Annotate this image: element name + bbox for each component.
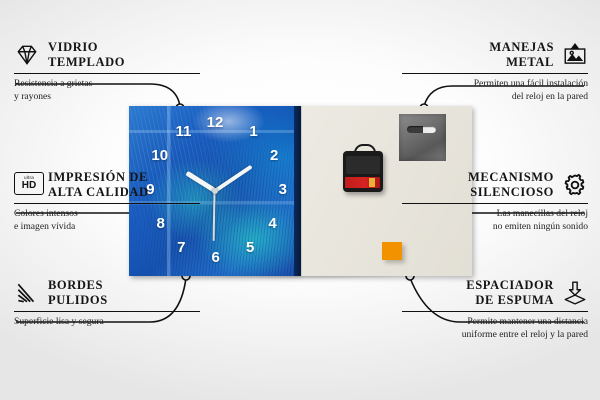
callout-desc-line1: Colores intensos xyxy=(14,208,200,220)
callout-title-line1: IMPRESIÓN DE xyxy=(48,170,149,185)
callout-title-line1: MANEJAS xyxy=(489,40,554,55)
clock-numeral-4: 4 xyxy=(268,216,276,231)
infographic-canvas: 12 1 2 3 4 5 6 7 8 9 10 11 xyxy=(0,0,600,400)
clock-numeral-12: 12 xyxy=(207,115,224,130)
callout-title-line1: ESPACIADOR xyxy=(466,278,554,293)
callout-manejas-metal: MANEJAS METAL Permiten una fácil instala… xyxy=(402,40,588,103)
callout-title-line2: METAL xyxy=(489,55,554,70)
arrow-onto-layers-icon xyxy=(562,280,588,306)
movement-plate xyxy=(346,156,380,174)
callout-head: MECANISMO SILENCIOSO xyxy=(402,170,588,200)
callout-mecanismo-silencioso: MECANISMO SILENCIOSO Las manecillas del … xyxy=(402,170,588,233)
callout-title-line2: PULIDOS xyxy=(48,293,108,308)
callout-title-line1: BORDES xyxy=(48,278,108,293)
callout-head: ESPACIADOR DE ESPUMA xyxy=(402,278,588,308)
callout-desc-line2: no emiten ningún sonido xyxy=(402,221,588,233)
callout-title-line2: ALTA CALIDAD xyxy=(48,185,149,200)
callout-desc-line1: Superficie lisa y segura xyxy=(14,316,200,328)
battery-label xyxy=(345,177,380,188)
callout-desc-line2: e imagen vívida xyxy=(14,221,200,233)
callout-rule xyxy=(402,203,588,205)
callout-desc-line2: del reloj en la pared xyxy=(402,91,588,103)
clock-numeral-10: 10 xyxy=(151,148,168,163)
clock-numeral-3: 3 xyxy=(279,182,287,197)
callout-rule xyxy=(14,311,200,313)
clock-numeral-6: 6 xyxy=(212,250,220,265)
callout-head: MANEJAS METAL xyxy=(402,40,588,70)
clock-numeral-1: 1 xyxy=(249,124,257,139)
callout-rule xyxy=(402,311,588,313)
clock-numeral-5: 5 xyxy=(246,240,254,255)
callout-desc-line2: uniforme entre el reloj y la pared xyxy=(402,329,588,341)
callout-impresion-alta-calidad: ultra HD IMPRESIÓN DE ALTA CALIDAD Color… xyxy=(14,170,200,233)
clock-numeral-7: 7 xyxy=(177,240,185,255)
callout-title-line2: TEMPLADO xyxy=(48,55,125,70)
callout-desc-line2: y rayones xyxy=(14,91,200,103)
callout-vidrio-templado: VIDRIO TEMPLADO Resistencia a grietas y … xyxy=(14,40,200,103)
picture-hanger-icon xyxy=(562,42,588,68)
diamond-icon xyxy=(14,42,40,68)
callout-title-line2: SILENCIOSO xyxy=(468,185,554,200)
callout-title-line2: DE ESPUMA xyxy=(466,293,554,308)
ultra-hd-icon: ultra HD xyxy=(14,172,40,198)
callout-title-line1: MECANISMO xyxy=(468,170,554,185)
callout-title-line1: VIDRIO xyxy=(48,40,125,55)
callout-head: VIDRIO TEMPLADO xyxy=(14,40,200,70)
quartz-movement xyxy=(343,151,383,192)
metal-hanger xyxy=(399,114,446,161)
callout-head: ultra HD IMPRESIÓN DE ALTA CALIDAD xyxy=(14,170,200,200)
hanger-slot xyxy=(407,126,436,133)
foam-spacer xyxy=(382,242,402,260)
clock-center-pivot xyxy=(212,188,218,194)
callout-bordes-pulidos: BORDES PULIDOS Superficie lisa y segura xyxy=(14,278,200,329)
callout-desc-line1: Las manecillas del reloj xyxy=(402,208,588,220)
callout-desc-line1: Permite mantener una distancia xyxy=(402,316,588,328)
callout-espaciador-de-espuma: ESPACIADOR DE ESPUMA Permite mantener un… xyxy=(402,278,588,341)
clock-numeral-2: 2 xyxy=(270,148,278,163)
callout-rule xyxy=(14,73,200,75)
clock-numeral-11: 11 xyxy=(175,124,191,139)
callout-desc-line1: Permiten una fácil instalación xyxy=(402,78,588,90)
gear-icon xyxy=(562,172,588,198)
callout-desc-line1: Resistencia a grietas xyxy=(14,78,200,90)
callout-head: BORDES PULIDOS xyxy=(14,278,200,308)
movement-hanging-loop xyxy=(354,144,376,156)
diagonal-lines-icon xyxy=(14,280,40,306)
callout-rule xyxy=(14,203,200,205)
callout-rule xyxy=(402,73,588,75)
hd-icon-bottom-text: HD xyxy=(22,181,36,191)
clock-right-edge xyxy=(294,106,301,276)
